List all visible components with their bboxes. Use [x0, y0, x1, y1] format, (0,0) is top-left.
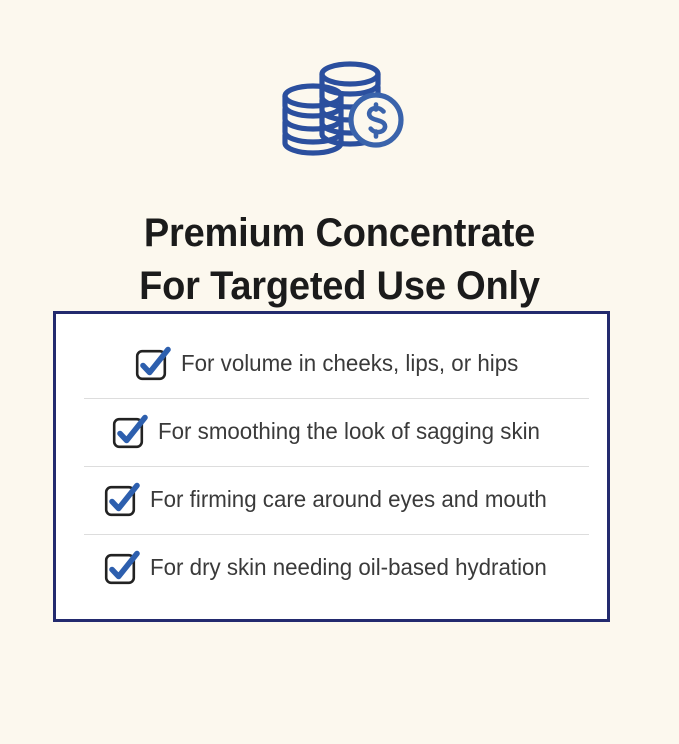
checkbox-checked-icon[interactable]	[104, 483, 138, 517]
product-benefits-card: Premium Concentrate For Targeted Use Onl…	[0, 0, 679, 744]
list-item: For firming care around eyes and mouth	[56, 466, 607, 534]
title-line-1: Premium Concentrate	[17, 207, 662, 260]
benefits-list: For volume in cheeks, lips, or hips For …	[56, 314, 607, 619]
list-item-label: For volume in cheeks, lips, or hips	[181, 350, 518, 378]
title-line-2: For Targeted Use Only	[17, 260, 662, 313]
list-item-label: For smoothing the look of sagging skin	[158, 418, 540, 446]
list-item-label: For firming care around eyes and mouth	[150, 486, 547, 514]
list-item: For smoothing the look of sagging skin	[56, 398, 607, 466]
list-item-label: For dry skin needing oil-based hydration	[150, 554, 547, 582]
checkbox-checked-icon[interactable]	[135, 347, 169, 381]
page-title: Premium Concentrate For Targeted Use Onl…	[17, 207, 662, 313]
icon-container	[0, 58, 679, 158]
list-item: For volume in cheeks, lips, or hips	[56, 330, 607, 398]
list-item: For dry skin needing oil-based hydration	[56, 534, 607, 602]
checkbox-checked-icon[interactable]	[112, 415, 146, 449]
stacked-coins-dollar-icon	[275, 58, 405, 158]
checkbox-checked-icon[interactable]	[104, 551, 138, 585]
benefits-panel: For volume in cheeks, lips, or hips For …	[53, 311, 610, 622]
